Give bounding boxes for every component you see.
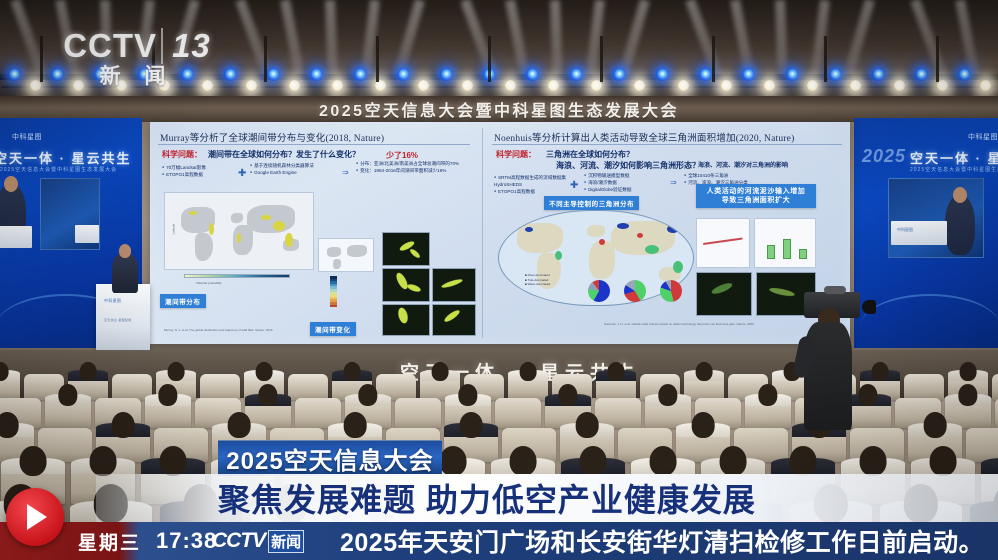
side-panel-inset-right: 中科星图	[888, 178, 984, 258]
bullet: ETOPO1高程数据	[162, 171, 206, 178]
audience-head	[558, 384, 577, 406]
audience-member	[841, 446, 905, 475]
slide-right-influence-label: 海浪、河流、潮汐对三角洲的影响	[698, 160, 788, 169]
audience-head	[344, 362, 361, 381]
audience-head	[608, 362, 625, 381]
satellite-tile	[432, 268, 476, 302]
slide-left-bullets-col3: 分布：亚洲/北美洲/南美洲占全球总潮间带的70% 变化：1984-2016年间潮…	[356, 160, 459, 174]
stage-light-white	[505, 80, 516, 91]
stage-light-white	[73, 80, 84, 91]
audience-member	[68, 362, 108, 381]
rig-post	[600, 36, 603, 82]
side-panel-slogan-left: 空天一体 · 星云共生	[0, 148, 132, 167]
inset-podium-brand-right: 中科星图	[897, 227, 913, 233]
audience-chair	[495, 398, 541, 428]
slide-left-world-map: Latitude	[164, 192, 314, 270]
audience-member	[645, 384, 691, 406]
audience-chair	[395, 398, 441, 428]
stage-light-blue	[138, 68, 151, 81]
slide-left: Murray等分析了全球潮间带分布与变化(2018, Nature) 科学问题：…	[150, 122, 480, 344]
audience-member	[332, 362, 372, 381]
delta-satellite-tile	[696, 272, 752, 316]
lower-third-topic-tag: 2025空天信息大会	[218, 440, 442, 476]
camera-microphone	[824, 286, 846, 294]
audience-head	[168, 362, 185, 381]
stage-light-white	[894, 80, 905, 91]
bullet: 70万幅Landsat影像	[162, 164, 206, 171]
side-led-panel-right: 中科星图 2025 空天一体 · 星云共生 2025空天信息大会暨中科星图生态发…	[854, 118, 998, 348]
slide-left-title: Murray等分析了全球潮间带分布与变化(2018, Nature)	[160, 130, 384, 144]
stage-light-white	[116, 80, 127, 91]
ticker-brand: CCTV 新闻	[212, 522, 304, 560]
audience-member	[71, 446, 135, 475]
arrow-right-icon: ⇒	[342, 168, 349, 177]
slide-left-science-label: 科学问题：	[162, 149, 202, 160]
audience-head	[510, 446, 537, 476]
rig-post	[712, 36, 715, 82]
play-badge[interactable]	[6, 488, 64, 546]
bullet: 全球10410条三角洲	[684, 172, 748, 179]
audience-head	[576, 412, 599, 437]
stage-podium: 中科星图 空天信息 星图赋能	[96, 284, 150, 356]
slide-right-science-question-2: 海浪、河流、潮汐如何影响三角洲形态？	[556, 160, 700, 171]
legend-strip	[330, 276, 337, 307]
slide-left-source-note: Murray, N. J. et al. The global distribu…	[164, 328, 272, 332]
stage-light-blue	[397, 68, 410, 81]
mini-chart-b	[754, 218, 816, 268]
slide-right-title: Noenhuis等分析计算出人类活动导致全球三角洲面积增加(2020, Natu…	[494, 130, 794, 144]
audience-head	[256, 362, 273, 381]
satellite-tile	[382, 304, 430, 336]
delta-pie-chart-3	[660, 280, 682, 302]
satellite-tile	[382, 268, 430, 302]
inset-speaker-head-left	[4, 176, 18, 192]
lower-third-headline-bar: 聚焦发展难题 助力低空产业健康发展	[96, 474, 998, 522]
audience-member	[0, 412, 34, 436]
stage-light-white	[462, 80, 473, 91]
stage-light-white	[159, 80, 170, 91]
podium-brand: 中科星图	[104, 298, 121, 304]
audience-member	[45, 384, 91, 406]
audience-member	[545, 384, 591, 406]
audience-head	[20, 446, 47, 476]
audience-head	[90, 446, 117, 476]
stage-banner-text: 2025空天信息大会暨中科星图生态发展大会	[319, 97, 679, 121]
slide-right-source-note: Nienhuis, J. H. et al. Global-scale huma…	[604, 322, 754, 326]
inset-podium2-left	[0, 226, 32, 248]
audience-head	[650, 446, 677, 476]
audience-member	[908, 412, 962, 436]
stage-light-row	[0, 58, 998, 98]
side-panel-inset-left	[40, 178, 100, 250]
inset-podium-left	[75, 225, 99, 243]
slide-right-bullets-col2: 沉积物输送模型数据 海浪/潮汐数据 DigitalGlobe验证数据	[584, 172, 631, 193]
slide-divider	[482, 128, 483, 338]
stage-light-blue	[915, 68, 928, 81]
audience-head	[358, 384, 377, 406]
panel-swoosh-right	[860, 294, 998, 340]
audience-member	[561, 446, 625, 475]
inset-podium-right: 中科星图	[891, 221, 947, 245]
stage-light-blue	[440, 68, 453, 81]
lower-third-headline-text: 聚焦发展难题 助力低空产业健康发展	[218, 475, 756, 521]
audience-head	[344, 412, 367, 437]
audience-member	[445, 384, 491, 406]
lower-third-topic-text: 2025空天信息大会	[226, 441, 433, 476]
audience-member	[244, 362, 284, 381]
side-panel-subtitle-right: 2025空天信息大会暨中科星图生态发展大会	[910, 166, 998, 173]
side-panel-brand-left: 中科星图	[12, 132, 42, 142]
bullet: DigitalGlobe验证数据	[584, 186, 631, 193]
delta-pie-chart-1	[588, 280, 610, 302]
stage-light-blue	[267, 68, 280, 81]
audience-member	[596, 362, 636, 381]
audience-head	[924, 412, 947, 437]
camera-operator	[790, 290, 870, 430]
audience-head	[520, 362, 537, 381]
rig-post	[488, 36, 491, 82]
audience-head	[958, 384, 977, 406]
audience-member	[345, 384, 391, 406]
ticker-brand-cctv: CCTV	[212, 529, 265, 553]
stage-light-blue	[699, 68, 712, 81]
slide-left-science-question: 潮间带在全球如何分布？发生了什么变化？	[208, 149, 360, 160]
audience-head	[580, 446, 607, 476]
ticker-weekday: 星期三	[78, 522, 141, 560]
satellite-tile	[382, 232, 430, 266]
podium-subtitle: 空天信息 星图赋能	[104, 318, 132, 322]
side-panel-subtitle-left: 2025空天信息大会暨中科星图生态发展大会	[0, 166, 117, 173]
stage-light-white	[807, 80, 818, 91]
stage-light-white	[418, 80, 429, 91]
stage-light-blue	[8, 68, 21, 81]
stage-light-blue	[51, 68, 64, 81]
rig-post	[40, 36, 43, 82]
stage-light-blue	[354, 68, 367, 81]
bullet: 基于连续随机森林分类器算法	[250, 162, 314, 169]
slide-left-percent-highlight: 少了16%	[386, 150, 418, 161]
stage-light-white	[678, 80, 689, 91]
speaker-body	[112, 253, 138, 293]
slide-left-title-rule	[158, 144, 470, 145]
audience-head	[460, 412, 483, 437]
slide-right-title-rule	[492, 144, 842, 145]
stage-light-blue	[958, 68, 971, 81]
audience-head	[658, 384, 677, 406]
bullet: 沉积物输送模型数据	[584, 172, 631, 179]
audience-member	[745, 384, 791, 406]
broadcast-frame: CCTV13 新 闻 2025空天信息大会暨中科星图生态发展大会 中科星图 空天…	[0, 0, 998, 560]
stage-light-white	[202, 80, 213, 91]
plus-icon: ✚	[570, 180, 578, 191]
audience-member	[560, 412, 614, 436]
audience-member	[701, 446, 765, 475]
audience-member	[156, 362, 196, 381]
projection-screen: Murray等分析了全球潮间带分布与变化(2018, Nature) 科学问题：…	[150, 122, 850, 344]
ticker-time: 17:38	[156, 522, 217, 560]
bullet: 海浪/潮汐数据	[584, 179, 631, 186]
plus-icon: ✚	[238, 168, 246, 179]
stage-light-blue	[829, 68, 842, 81]
stage-light-blue	[656, 68, 669, 81]
audience-member	[771, 446, 835, 475]
slide-right-science-label: 科学问题：	[496, 149, 536, 160]
ticker-headline-text: 2025年天安门广场和长安街华灯清扫检修工作日前启动。	[340, 522, 984, 560]
stage-light-white	[980, 80, 991, 91]
audience-chair	[904, 374, 944, 400]
bullet: Google Earth Engine	[250, 169, 314, 176]
audience-head	[440, 446, 467, 476]
stage-light-white	[30, 80, 41, 91]
audience-member	[245, 384, 291, 406]
stage-light-blue	[224, 68, 237, 81]
side-panel-slogan-right: 空天一体 · 星云共生	[910, 148, 998, 167]
bullet: 分布：亚洲/北美洲/南美洲占全球总潮间带的70%	[356, 160, 459, 167]
audience-member	[96, 412, 150, 436]
rig-post	[376, 36, 379, 82]
stage-light-white	[246, 80, 257, 91]
tag-tidal-change: 潮间带变化	[310, 322, 356, 336]
inset-speaker-head-right	[953, 187, 967, 203]
audience-head	[872, 362, 889, 381]
stage-light-white	[764, 80, 775, 91]
audience-head	[960, 362, 977, 381]
delta-pie-chart-2	[624, 280, 646, 302]
audience-member	[508, 362, 548, 381]
stage-banner: 2025空天信息大会暨中科星图生态发展大会	[0, 96, 998, 122]
speaker-head	[119, 244, 131, 258]
stage-light-white	[634, 80, 645, 91]
stage-light-white	[721, 80, 732, 91]
audience-head	[58, 384, 77, 406]
stage-light-blue	[786, 68, 799, 81]
stage-light-blue	[742, 68, 755, 81]
audience-member	[491, 446, 555, 475]
arrow-right-icon: ⇒	[670, 178, 677, 187]
audience-member	[948, 362, 988, 381]
tag-delta-distribution: 不同主导控制的三角洲分布	[544, 196, 639, 210]
audience-member	[420, 362, 460, 381]
audience-member	[444, 412, 498, 436]
audience-chair	[288, 374, 328, 400]
audience-head	[258, 384, 277, 406]
tag-human-impact: 人类活动的河流泥沙输入增加导致三角洲面积扩大	[696, 184, 816, 208]
audience-member	[684, 362, 724, 381]
audience-member	[328, 412, 382, 436]
audience-chair	[992, 374, 998, 400]
rig-post	[824, 36, 827, 82]
ceiling-truss	[0, 0, 998, 100]
slide-left-bullets-col1: 70万幅Landsat影像 ETOPO1高程数据	[162, 164, 206, 178]
camera-lens	[862, 300, 876, 314]
audience-head	[0, 412, 18, 437]
ticker-brand-news: 新闻	[268, 530, 304, 553]
audience-member	[0, 362, 20, 381]
audience-member	[981, 446, 998, 475]
audience-head	[758, 384, 777, 406]
stage-light-blue	[613, 68, 626, 81]
audience-head	[112, 412, 135, 437]
audience-head	[930, 446, 957, 476]
audience-head	[80, 362, 97, 381]
world-map-canvas	[165, 193, 313, 269]
audience-member	[145, 384, 191, 406]
colorbar	[184, 274, 290, 278]
play-icon-inner	[30, 508, 43, 526]
audience-member	[1, 446, 65, 475]
slide-left-bullets-col2: 基于连续随机森林分类器算法 Google Earth Engine	[250, 162, 314, 176]
audience-head	[158, 384, 177, 406]
stage-light-white	[289, 80, 300, 91]
audience-head	[860, 446, 887, 476]
news-ticker-bar: 星期三 17:38 CCTV 新闻 2025年天安门广场和长安街华灯清扫检修工作…	[0, 522, 998, 560]
audience-member	[911, 446, 975, 475]
tag-tidal-distribution: 潮间带分布	[160, 294, 206, 308]
side-panel-year-right: 2025	[862, 146, 906, 167]
audience-head	[160, 446, 187, 476]
audience-member	[212, 412, 266, 436]
audience-member	[141, 446, 205, 475]
stage-light-white	[548, 80, 559, 91]
bullet: 变化：1984-2016年间潮间带面积减少16%	[356, 167, 459, 174]
stage-light-blue	[94, 68, 107, 81]
audience-head	[790, 446, 817, 476]
audience-head	[720, 446, 747, 476]
stage-light-white	[850, 80, 861, 91]
inset-speaker-body-right	[945, 195, 975, 255]
side-panel-brand-right: 中科星图	[968, 132, 998, 142]
stage-light-white	[332, 80, 343, 91]
audience-member	[945, 384, 991, 406]
audience-head	[432, 362, 449, 381]
audience-head	[696, 362, 713, 381]
rig-post	[264, 36, 267, 82]
audience-head	[692, 412, 715, 437]
audience-head	[458, 384, 477, 406]
audience-shoulders	[981, 458, 998, 474]
stage-light-blue	[181, 68, 194, 81]
audience-member	[676, 412, 730, 436]
slide-right-bullets-col1: SRTM高程数据生成的流域数据集HydroSHEDS ETOPO1高程数据	[494, 174, 568, 195]
stage-light-blue	[526, 68, 539, 81]
stage-light-blue	[570, 68, 583, 81]
slide-right-science-question-1: 三角洲在全球如何分布？	[546, 149, 634, 160]
bullet: SRTM高程数据生成的流域数据集HydroSHEDS	[494, 174, 568, 188]
mini-chart-a	[696, 218, 750, 268]
audience-member	[631, 446, 695, 475]
slide-left-inset-map	[318, 238, 374, 272]
satellite-tile	[432, 304, 476, 336]
audience-chair	[200, 374, 240, 400]
bullet: ETOPO1高程数据	[494, 188, 568, 195]
audience-head	[228, 412, 251, 437]
stage-light-blue	[310, 68, 323, 81]
stage-light-blue	[872, 68, 885, 81]
rig-post	[936, 36, 939, 82]
rig-post	[152, 36, 155, 82]
